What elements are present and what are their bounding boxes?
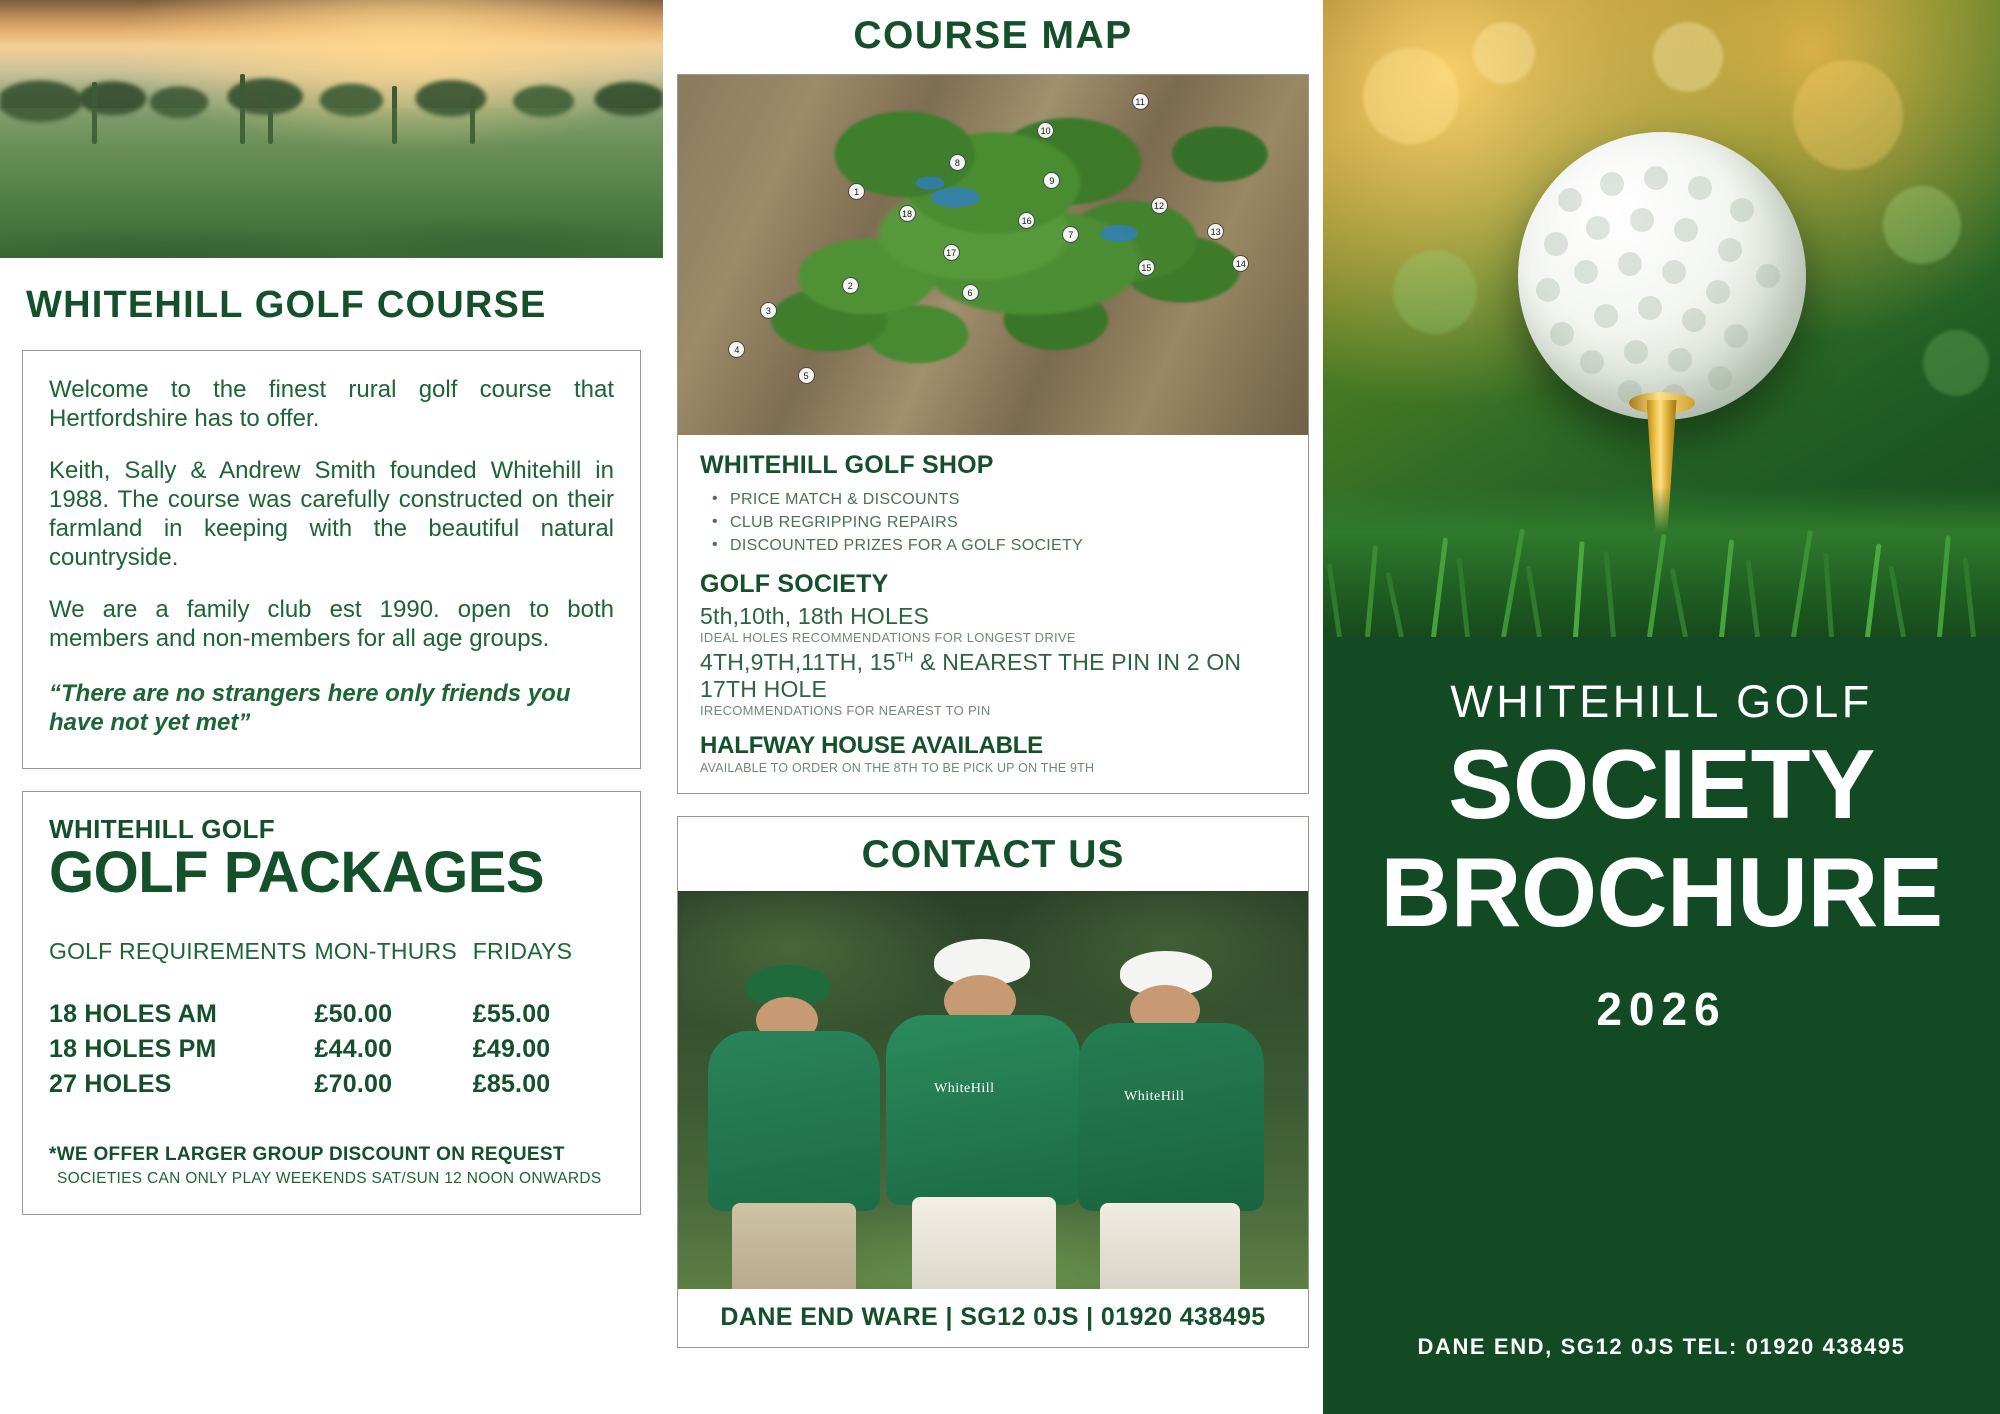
intro-paragraph-3: We are a family club est 1990. open to b… (49, 595, 614, 654)
table-row: 27 HOLES £70.00 £85.00 (49, 1067, 614, 1102)
col-header-fridays: FRIDAYS (473, 938, 614, 997)
shirt-logo: WhiteHill (1124, 1089, 1185, 1105)
row-requirement: 18 HOLES PM (49, 1032, 315, 1067)
brochure-title-line-2: BROCHURE (1353, 844, 1970, 940)
map-hole-marker: 13 (1207, 223, 1224, 240)
list-item: DISCOUNTED PRIZES FOR A GOLF SOCIETY (700, 534, 1286, 557)
society-longest-drive-caption: IDEAL HOLES RECOMMENDATIONS FOR LONGEST … (700, 630, 1286, 645)
contact-heading: CONTACT US (678, 817, 1308, 891)
right-panel-titles: WHITEHILL GOLF SOCIETY BROCHURE 2026 (1323, 637, 2000, 1036)
contact-card: CONTACT US WhiteHill (677, 816, 1309, 1348)
row-price-mon-thurs: £44.00 (315, 1032, 473, 1067)
brochure-pre-title: WHITEHILL GOLF (1353, 679, 1970, 724)
map-hole-marker: 17 (943, 244, 960, 261)
society-longest-drive-holes: 5th,10th, 18th HOLES (700, 603, 1286, 630)
map-hole-marker: 18 (899, 205, 916, 222)
course-map-image: 1 2 3 4 5 6 7 8 9 10 11 12 13 14 15 16 1… (678, 75, 1308, 435)
row-requirement: 27 HOLES (49, 1067, 315, 1102)
table-header-row: GOLF REQUIREMENTS MON-THURS FRIDAYS (49, 938, 614, 997)
grass-foreground (1323, 487, 2000, 637)
map-hole-marker: 10 (1037, 122, 1054, 139)
map-hole-marker: 6 (962, 284, 979, 301)
nearest-pin-ordinal: TH (896, 649, 914, 664)
intro-quote: “There are no strangers here only friend… (49, 679, 614, 738)
intro-box: Welcome to the finest rural golf course … (22, 350, 641, 769)
halfway-house-caption: AVAILABLE TO ORDER ON THE 8TH TO BE PICK… (700, 761, 1286, 775)
society-nearest-pin-holes: 4TH,9TH,11TH, 15TH & NEAREST THE PIN IN … (700, 649, 1286, 703)
golf-ball (1518, 132, 1806, 420)
golfers-photo: WhiteHill WhiteHill (678, 891, 1308, 1289)
map-hole-marker: 4 (728, 341, 745, 358)
right-panel: WHITEHILL GOLF SOCIETY BROCHURE 2026 DAN… (1323, 0, 2000, 1414)
golf-shop-benefit-list: PRICE MATCH & DISCOUNTS CLUB REGRIPPING … (700, 488, 1286, 558)
page-title: WHITEHILL GOLF COURSE (0, 258, 663, 324)
course-map-heading: COURSE MAP (677, 0, 1309, 74)
map-hole-marker: 3 (760, 302, 777, 319)
packages-note-weekends: SOCIETIES CAN ONLY PLAY WEEKENDS SAT/SUN… (49, 1170, 614, 1188)
map-hole-marker: 11 (1132, 93, 1149, 110)
row-requirement: 18 HOLES AM (49, 997, 315, 1032)
shirt-logo: WhiteHill (934, 1081, 995, 1097)
map-hole-marker: 15 (1138, 259, 1155, 276)
map-hole-marker: 2 (842, 277, 859, 294)
map-hole-marker: 12 (1151, 197, 1168, 214)
map-hole-marker: 16 (1018, 212, 1035, 229)
halfway-house-title: HALFWAY HOUSE AVAILABLE (700, 732, 1286, 760)
golf-ball-hero-photo (1323, 0, 2000, 637)
golfer-figure (698, 959, 888, 1289)
map-hole-marker: 9 (1043, 172, 1060, 189)
golfer-figure: WhiteHill (1070, 949, 1270, 1289)
packages-price-table: GOLF REQUIREMENTS MON-THURS FRIDAYS 18 H… (49, 938, 614, 1102)
course-map-card: 1 2 3 4 5 6 7 8 9 10 11 12 13 14 15 16 1… (677, 74, 1309, 794)
golf-shop-section: WHITEHILL GOLF SHOP PRICE MATCH & DISCOU… (678, 435, 1308, 793)
row-price-fridays: £55.00 (473, 997, 614, 1032)
map-hole-marker: 14 (1232, 255, 1249, 272)
table-row: 18 HOLES PM £44.00 £49.00 (49, 1032, 614, 1067)
middle-panel: COURSE MAP 1 2 3 4 5 6 7 8 9 10 11 12 13… (663, 0, 1323, 1414)
brochure-year: 2026 (1353, 982, 1970, 1036)
brochure-page: WHITEHILL GOLF COURSE Welcome to the fin… (0, 0, 2000, 1414)
row-price-mon-thurs: £50.00 (315, 997, 473, 1032)
intro-paragraph-1: Welcome to the finest rural golf course … (49, 375, 614, 434)
intro-paragraph-2: Keith, Sally & Andrew Smith founded Whit… (49, 456, 614, 573)
course-sunrise-photo (0, 0, 663, 258)
society-nearest-pin-caption: IRECOMMENDATIONS FOR NEAREST TO PIN (700, 703, 1286, 718)
list-item: CLUB REGRIPPING REPAIRS (700, 511, 1286, 534)
golf-society-title: GOLF SOCIETY (700, 570, 1286, 599)
golf-packages-box: WHITEHILL GOLF GOLF PACKAGES GOLF REQUIR… (22, 791, 641, 1215)
col-header-requirements: GOLF REQUIREMENTS (49, 938, 315, 997)
list-item: PRICE MATCH & DISCOUNTS (700, 488, 1286, 511)
col-header-mon-thurs: MON-THURS (315, 938, 473, 997)
row-price-mon-thurs: £70.00 (315, 1067, 473, 1102)
right-panel-footer-address: DANE END, SG12 0JS TEL: 01920 438495 (1323, 1334, 2000, 1360)
golfer-figure: WhiteHill (878, 939, 1088, 1289)
contact-footer-address: DANE END WARE | SG12 0JS | 01920 438495 (678, 1289, 1308, 1347)
brochure-title-line-1: SOCIETY (1353, 736, 1970, 832)
map-hole-marker: 8 (949, 154, 966, 171)
map-hole-marker: 1 (848, 183, 865, 200)
packages-note-discount: *WE OFFER LARGER GROUP DISCOUNT ON REQUE… (49, 1144, 614, 1166)
map-hole-marker: 7 (1062, 226, 1079, 243)
packages-title: GOLF PACKAGES (49, 843, 614, 904)
row-price-fridays: £49.00 (473, 1032, 614, 1067)
left-panel: WHITEHILL GOLF COURSE Welcome to the fin… (0, 0, 663, 1414)
golf-shop-title: WHITEHILL GOLF SHOP (700, 451, 1286, 480)
row-price-fridays: £85.00 (473, 1067, 614, 1102)
map-hole-marker: 5 (798, 367, 815, 384)
nearest-pin-holes-a: 4TH,9TH,11TH, 15 (700, 649, 896, 675)
table-row: 18 HOLES AM £50.00 £55.00 (49, 997, 614, 1032)
